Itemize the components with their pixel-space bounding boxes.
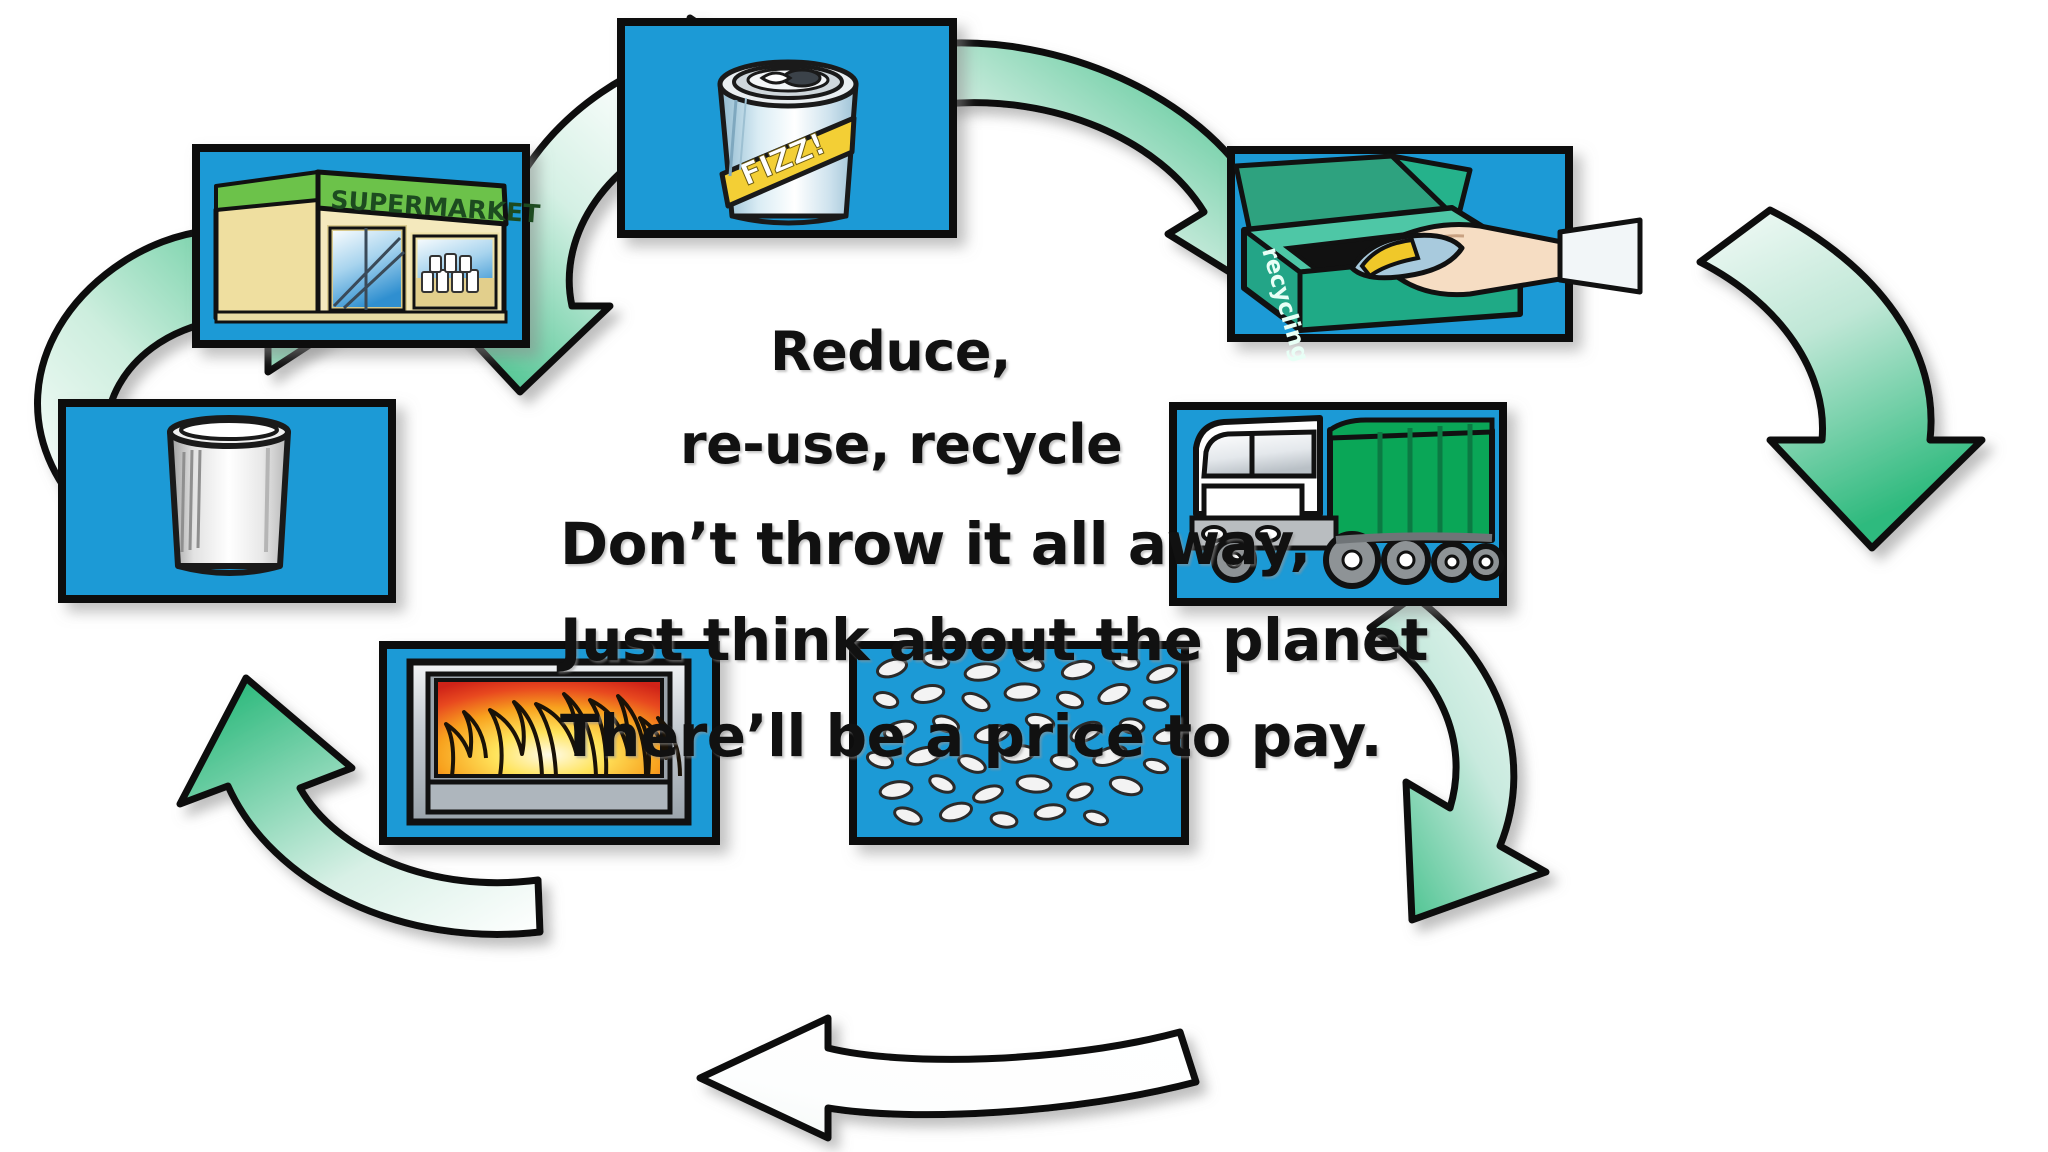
panel-refuse-truck [1173,406,1503,602]
arrow-scrap-to-furnace [700,1018,1196,1138]
panel-supermarket: SUPERMARKET [196,148,541,344]
panel-blank-can [62,403,392,599]
arrow-bin-to-truck [1700,210,1982,548]
panel-furnace [383,645,716,841]
fizz-can-drawing: FIZZ! [720,62,856,223]
panel-recycling-bin: recycling [1231,150,1640,365]
cycle-diagram: SUPERMARKET [0,0,2048,1152]
panel-fizz-can: FIZZ! [621,22,953,234]
arrow-truck-to-scrap [1370,596,1546,920]
blank-can-drawing [170,418,288,573]
recycling-cycle-poster: SUPERMARKET [0,0,2048,1152]
panel-shredded-scrap [853,645,1185,841]
